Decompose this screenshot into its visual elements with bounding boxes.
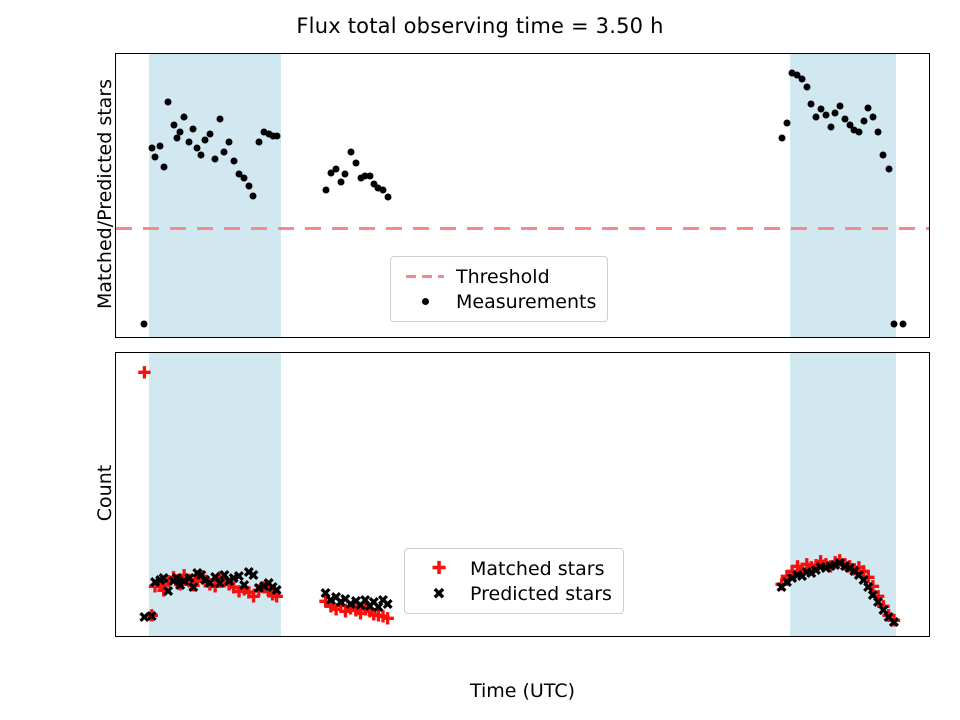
data-point (165, 98, 172, 105)
bottom-panel-legend: ✚ Matched stars ✖ Predicted stars (404, 548, 624, 614)
data-point (380, 186, 387, 193)
data-point (186, 138, 193, 145)
data-point (226, 138, 233, 145)
data-point (869, 114, 876, 121)
data-point (860, 117, 867, 124)
data-point (273, 133, 280, 140)
legend-item-measurements: Measurements (402, 289, 596, 314)
dot-marker-icon (402, 298, 448, 305)
data-point (206, 131, 213, 138)
data-point (221, 148, 228, 155)
data-point (202, 137, 209, 144)
legend-label-measurements: Measurements (456, 291, 596, 313)
data-point (190, 125, 197, 132)
data-point (836, 102, 843, 109)
top-panel-ylabel: Matched/Predicted stars (94, 29, 116, 359)
data-point (875, 129, 882, 136)
data-point (342, 171, 349, 178)
data-point (885, 165, 892, 172)
data-point (170, 121, 177, 128)
data-point (347, 148, 354, 155)
plus-marker-icon: ✚ (416, 560, 462, 578)
cross-marker-icon: ✖ (416, 586, 462, 602)
data-point (151, 154, 158, 161)
data-point (216, 116, 223, 123)
legend-item-threshold: Threshold (402, 264, 596, 289)
data-point (855, 129, 862, 136)
data-point (322, 186, 329, 193)
data-point (890, 320, 897, 327)
x-axis-label: Time (UTC) (116, 680, 929, 702)
data-point: ✖ (888, 616, 901, 631)
top-panel-legend: Threshold Measurements (390, 256, 608, 322)
threshold-line (116, 227, 929, 230)
shaded-band-1 (149, 54, 281, 337)
data-point: ✚ (137, 366, 151, 383)
data-point (181, 114, 188, 121)
data-point (148, 144, 155, 151)
data-point (352, 159, 359, 166)
data-point (241, 175, 248, 182)
legend-item-predicted-stars: ✖ Predicted stars (416, 581, 612, 606)
data-point: ✖ (381, 597, 394, 612)
data-point (141, 320, 148, 327)
data-point (366, 173, 373, 180)
data-point (778, 135, 785, 142)
data-point (160, 163, 167, 170)
data-point: ✖ (270, 583, 283, 598)
data-point (880, 152, 887, 159)
data-point (198, 152, 205, 159)
data-point (157, 142, 164, 149)
legend-label-threshold: Threshold (456, 266, 550, 288)
data-point (250, 192, 257, 199)
data-point (899, 320, 906, 327)
data-point (212, 156, 219, 163)
data-point (255, 138, 262, 145)
data-point (783, 119, 790, 126)
data-point (865, 104, 872, 111)
data-point (803, 83, 810, 90)
legend-item-matched-stars: ✚ Matched stars (416, 556, 612, 581)
data-point (194, 144, 201, 151)
data-point (812, 114, 819, 121)
data-point (808, 100, 815, 107)
data-point (245, 182, 252, 189)
data-point (337, 179, 344, 186)
dashed-line-icon (402, 275, 448, 278)
data-point (230, 158, 237, 165)
figure-title: Flux total observing time = 3.50 h (0, 14, 960, 38)
data-point (827, 123, 834, 130)
shaded-band-2 (790, 54, 896, 337)
data-point (177, 129, 184, 136)
data-point (822, 112, 829, 119)
data-point (832, 110, 839, 117)
legend-label-matched-stars: Matched stars (470, 558, 604, 580)
data-point (384, 194, 391, 201)
data-point (333, 165, 340, 172)
figure-root: Flux total observing time = 3.50 h 0.000… (0, 0, 960, 720)
data-point (799, 75, 806, 82)
data-point: ✖ (145, 610, 158, 625)
bottom-panel-ylabel: Count (94, 378, 116, 608)
legend-label-predicted-stars: Predicted stars (470, 583, 612, 605)
